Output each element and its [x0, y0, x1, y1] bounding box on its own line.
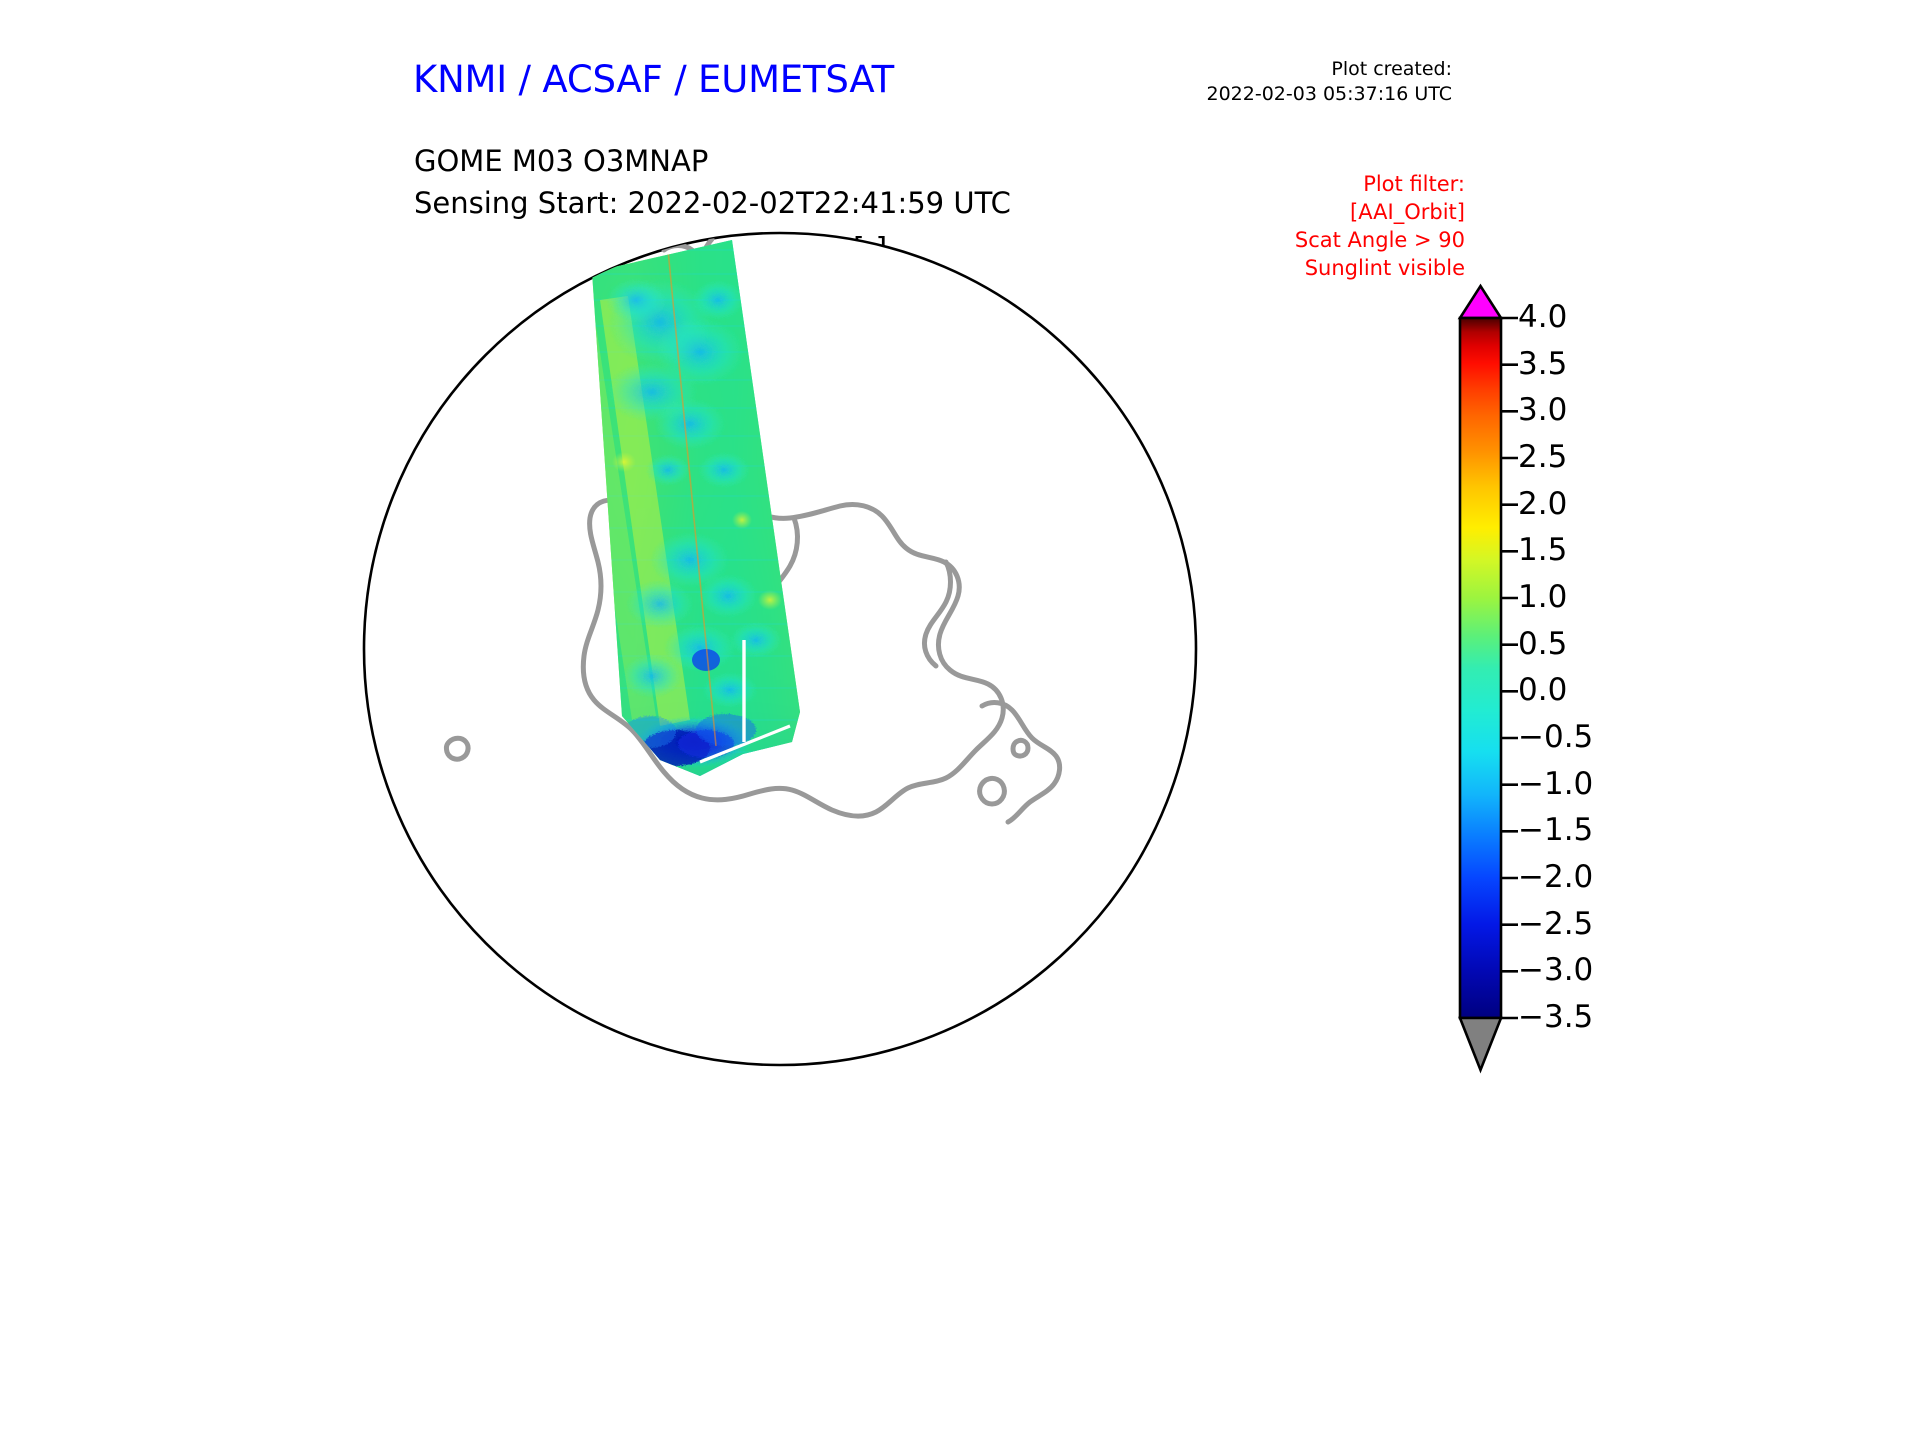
colorbar-tick-label: 2.5 [1518, 442, 1567, 473]
colorbar-tick-label: −1.5 [1518, 815, 1593, 846]
colorbar-tick-label: −3.0 [1518, 955, 1593, 986]
colorbar-tick-label: 0.5 [1518, 629, 1567, 660]
swath-blue-speck [692, 649, 720, 671]
colorbar-tick-label: 4.0 [1518, 302, 1567, 333]
colorbar-tick-label: 3.0 [1518, 395, 1567, 426]
colorbar-tick-label: −2.5 [1518, 909, 1593, 940]
colorbar-tick-label: 2.0 [1518, 489, 1567, 520]
colorbar-tick-label: 1.5 [1518, 535, 1567, 566]
colorbar-tick-label: −1.0 [1518, 769, 1593, 800]
colorbar-over-arrow [1460, 286, 1501, 318]
plot-canvas: KNMI / ACSAF / EUMETSAT Plot created: 20… [0, 0, 1920, 1440]
colorbar: 4.0 3.5 3.0 2.5 2.0 1.5 1.0 0.5 0.0 −0.5… [1450, 280, 1750, 1120]
colorbar-tick-labels: 4.0 3.5 3.0 2.5 2.0 1.5 1.0 0.5 0.0 −0.5… [1518, 280, 1698, 1060]
colorbar-gradient [1460, 318, 1501, 1018]
colorbar-tick-label: −2.0 [1518, 862, 1593, 893]
colorbar-ticks [1501, 318, 1518, 1018]
colorbar-tick-label: 1.0 [1518, 582, 1567, 613]
colorbar-tick-label: 0.0 [1518, 675, 1567, 706]
colorbar-under-arrow [1460, 1018, 1501, 1070]
colorbar-tick-label: 3.5 [1518, 349, 1567, 380]
colorbar-tick-label: −0.5 [1518, 722, 1593, 753]
colorbar-tick-label: −3.5 [1518, 1002, 1593, 1033]
